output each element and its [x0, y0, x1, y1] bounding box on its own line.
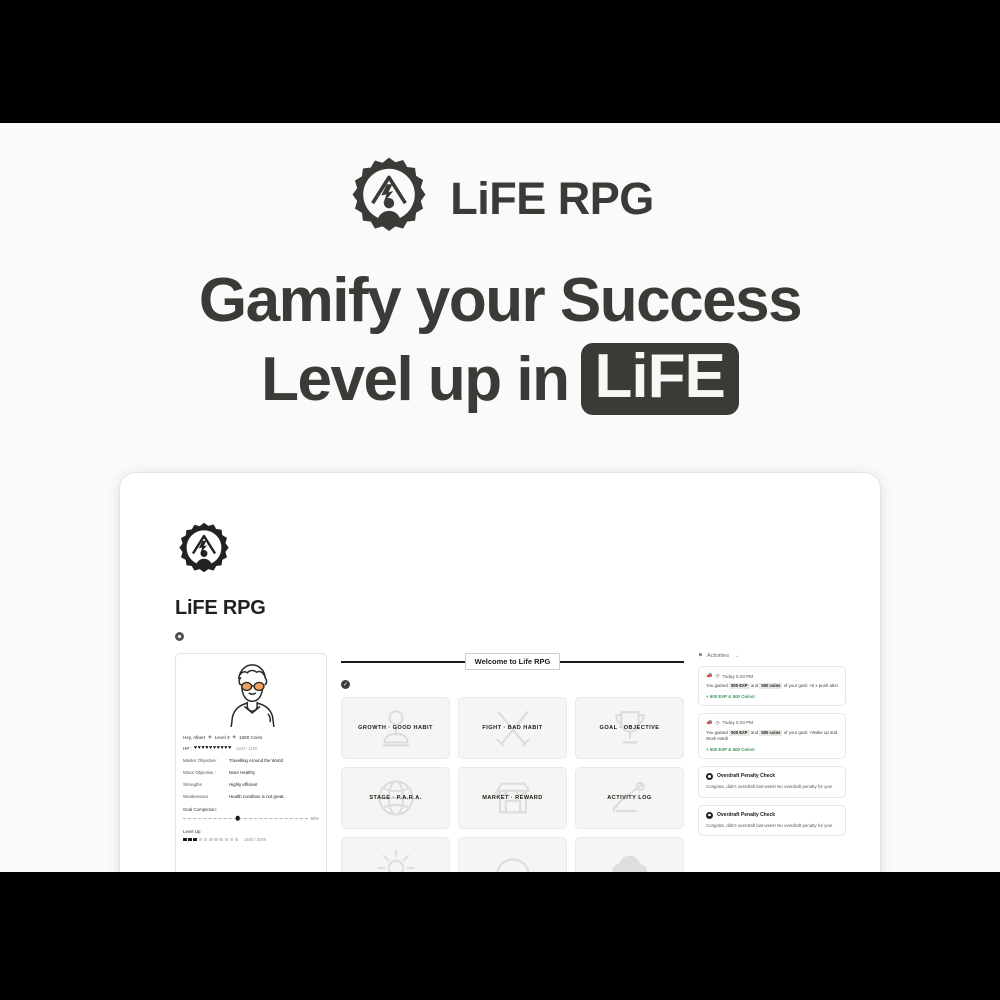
app-page-title: LiFE RPG: [175, 597, 846, 620]
level-dot: [219, 838, 223, 842]
megaphone-icon: 📣: [706, 720, 712, 726]
activities-panel: ⚑ Activities ⌄ 📣 ◷ Today 5:33 PM Yo: [698, 653, 846, 872]
level-dot: [209, 838, 213, 842]
tile-growth-good-habit[interactable]: GROWTH · GOOD HABIT: [341, 697, 450, 759]
hero-wordmark: LiFE RPG: [450, 176, 654, 221]
level-dot: [225, 838, 229, 842]
level-up-progress: 1500 / 3000: [183, 837, 319, 842]
penalty-body: Congrats, didn't overdraft last week! No…: [706, 823, 838, 830]
level-dot: [199, 838, 203, 842]
tile-row3-dome[interactable]: [458, 837, 567, 872]
activity-body-pre: You gained: [706, 683, 728, 688]
hp-row: HP : ♥♥♥♥♥♥♥♥♥♥ 1100 / 1100: [183, 745, 319, 751]
activities-header[interactable]: ⚑ Activities ⌄: [698, 653, 846, 659]
character-level: Level 3: [215, 735, 230, 740]
level-dot: [193, 838, 197, 842]
page-bullet-icon: [175, 632, 184, 641]
penalty-title-row: Overdraft Penalty Check: [706, 812, 838, 819]
avatar: [183, 661, 319, 727]
activities-icon: ⚑: [698, 653, 703, 659]
app-columns: Hey, Albert ◆ Level 3 ◆ 1080 Coins HP : …: [175, 653, 846, 872]
level-dot: [235, 838, 239, 842]
tile-fight-bad-habit[interactable]: FIGHT · BAD HABIT: [458, 697, 567, 759]
goal-completion-value: 50%: [311, 816, 319, 821]
clock-icon: ◷: [715, 720, 719, 726]
cloud-icon: [607, 845, 653, 872]
meter-track: [183, 815, 308, 821]
activity-time: Today 5:33 PM: [722, 720, 753, 725]
clock-icon: ◷: [715, 673, 719, 679]
tile-label: STAGE · P.A.R.A.: [365, 795, 425, 801]
tile-row3-cloud[interactable]: [575, 837, 684, 872]
tile-label: GROWTH · GOOD HABIT: [354, 725, 437, 731]
tile-activity-log[interactable]: ACTIVITY LOG: [575, 767, 684, 829]
character-attribute-row: Strengths Highly efficient: [183, 782, 319, 787]
headline-chip: LiFE: [581, 343, 739, 415]
hero-logo: LiFE RPG: [0, 155, 1000, 241]
activity-meta: 📣 ◷ Today 5:33 PM: [706, 720, 838, 726]
record-dot-icon: [706, 773, 713, 780]
headline-line-1: Gamify your Success: [0, 268, 1000, 333]
meter-knob[interactable]: [236, 816, 241, 821]
goal-completion-meter[interactable]: 50%: [183, 815, 319, 821]
screenshot-stage: LiFE RPG Gamify your Success Level up in…: [0, 0, 1000, 1000]
separator-dot: ◆: [233, 734, 237, 740]
character-identity: Hey, Albert ◆ Level 3 ◆ 1080 Coins: [183, 734, 319, 740]
attribute-key: Weaknesses: [183, 794, 229, 799]
activity-reward: + 500 EXP & 500 Coins!: [706, 747, 838, 752]
activity-item[interactable]: 📣 ◷ Today 5:33 PM You gained 500 EXP and…: [698, 713, 846, 759]
activity-body-mid: and: [751, 730, 758, 735]
attribute-value: More Healthy: [229, 770, 319, 775]
welcome-banner: Welcome to Life RPG: [341, 653, 684, 670]
activity-meta: 📣 ◷ Today 5:33 PM: [706, 673, 838, 679]
activity-item[interactable]: 📣 ◷ Today 5:33 PM You gained 500 EXP and…: [698, 666, 846, 706]
level-dot: [183, 838, 187, 842]
welcome-banner-label: Welcome to Life RPG: [465, 653, 561, 670]
activity-body-mid: and: [751, 683, 758, 688]
activity-item[interactable]: Overdraft Penalty Check Congrats, didn't…: [698, 766, 846, 798]
divider-right: [560, 661, 684, 663]
content-band: LiFE RPG Gamify your Success Level up in…: [0, 123, 1000, 872]
character-attribute-row: Minor Objective : More Healthy: [183, 770, 319, 775]
exp-tag: 500 EXP: [729, 683, 750, 689]
record-dot-icon: [706, 812, 713, 819]
activity-body-pre: You gained: [706, 730, 728, 735]
penalty-body: Congrats, didn't overdraft last week! No…: [706, 784, 838, 791]
exp-tag: 500 EXP: [729, 730, 750, 736]
penalty-title: Overdraft Penalty Check: [717, 773, 775, 779]
hero-headline: Gamify your Success Level up in LiFE: [0, 268, 1000, 415]
goal-completion-label: Goal Completion:: [183, 807, 319, 812]
coin-tag: 500 coins: [759, 730, 782, 736]
attribute-key: Strengths: [183, 782, 229, 787]
character-attribute-row: Weaknesses Health condition is not great…: [183, 794, 319, 799]
tile-label: GOAL · OBJECTIVE: [596, 725, 664, 731]
attribute-value: Highly efficient: [229, 782, 319, 787]
activity-body-post: of your goal: +5 x push abs!: [784, 683, 838, 688]
hp-value: 1100 / 1100: [236, 746, 258, 751]
activity-item[interactable]: Overdraft Penalty Check Congrats, didn't…: [698, 805, 846, 837]
level-dot: [230, 838, 234, 842]
tile-goal-objective[interactable]: GOAL · OBJECTIVE: [575, 697, 684, 759]
attribute-key: Master Objective :: [183, 758, 229, 763]
hp-label: HP :: [183, 746, 192, 751]
activities-title: Activities: [707, 653, 729, 659]
headline-line-2: Level up in LiFE: [0, 343, 1000, 415]
character-card: Hey, Albert ◆ Level 3 ◆ 1080 Coins HP : …: [175, 653, 327, 872]
gear-adventurer-icon: [346, 155, 432, 241]
penalty-title-row: Overdraft Penalty Check: [706, 773, 838, 780]
megaphone-icon: 📣: [706, 673, 712, 679]
tile-label: FIGHT · BAD HABIT: [478, 725, 546, 731]
tile-label: MARKET · REWARD: [478, 795, 547, 801]
activity-body: You gained 500 EXP and 500 coins of your…: [706, 730, 838, 743]
activity-time: Today 5:33 PM: [722, 674, 753, 679]
character-attribute-row: Master Objective : Travelling Around the…: [183, 758, 319, 763]
attribute-value: Travelling Around the World: [229, 758, 319, 763]
headline-line-2-text: Level up in: [261, 347, 568, 412]
attribute-key: Minor Objective :: [183, 770, 229, 775]
tile-stage-para[interactable]: STAGE · P.A.R.A.: [341, 767, 450, 829]
level-up-value: 1500 / 3000: [244, 837, 266, 842]
check-icon[interactable]: ✓: [341, 680, 350, 689]
level-up-label: Level Up:: [183, 829, 319, 834]
tile-label: ACTIVITY LOG: [603, 795, 655, 801]
separator-dot: ◆: [208, 734, 212, 740]
module-tile-grid: GROWTH · GOOD HABIT FIGHT · BAD HABIT: [341, 697, 684, 872]
character-greeting: Hey, Albert: [183, 735, 205, 740]
attribute-value: Health condition is not great.: [229, 794, 319, 799]
sun-icon: [373, 845, 419, 872]
activity-reward: + 500 EXP & 500 Coins!: [706, 694, 838, 699]
character-coins: 1080 Coins: [239, 735, 262, 740]
penalty-title: Overdraft Penalty Check: [717, 812, 775, 818]
chevron-down-icon[interactable]: ⌄: [735, 653, 739, 659]
app-content: LiFE RPG: [175, 521, 846, 872]
level-dot: [214, 838, 218, 842]
level-dot: [188, 838, 192, 842]
tile-row3-sun[interactable]: [341, 837, 450, 872]
hp-hearts-icon: ♥♥♥♥♥♥♥♥♥♥: [194, 745, 232, 751]
avatar-illustration-icon: [214, 661, 288, 727]
gear-adventurer-icon: [175, 521, 233, 579]
tile-market-reward[interactable]: MARKET · REWARD: [458, 767, 567, 829]
divider-left: [341, 661, 465, 663]
dome-icon: [490, 845, 536, 872]
coin-tag: 500 coins: [759, 683, 782, 689]
activity-body: You gained 500 EXP and 500 coins of your…: [706, 683, 838, 690]
main-column: Welcome to Life RPG ✓: [341, 653, 684, 872]
sunglasses-icon: [242, 682, 264, 690]
level-dot: [204, 838, 208, 842]
app-window-preview: LiFE RPG: [120, 473, 880, 872]
